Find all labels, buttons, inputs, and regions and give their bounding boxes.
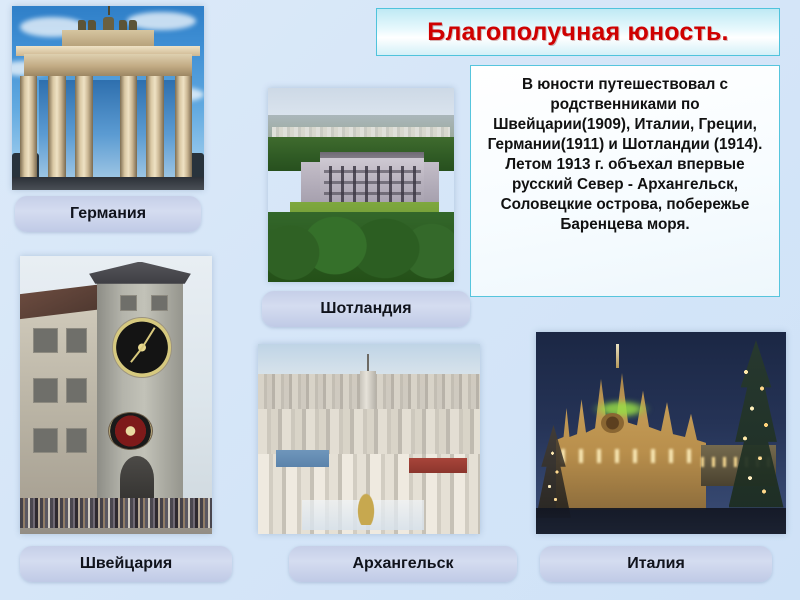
gate-column bbox=[48, 76, 65, 179]
presentation-slide: Благополучная юность. В юности путешеств… bbox=[0, 0, 800, 600]
foreground-trees bbox=[268, 212, 454, 282]
red-roof-building bbox=[409, 458, 467, 473]
window bbox=[66, 328, 87, 352]
photo-germany bbox=[12, 6, 204, 190]
clock-hand bbox=[130, 348, 143, 364]
photo-arkhangelsk bbox=[258, 344, 480, 534]
caption-italy-text: Италия bbox=[627, 555, 685, 573]
gate-column bbox=[146, 76, 163, 179]
window bbox=[33, 328, 58, 352]
window bbox=[33, 378, 58, 402]
tower-window bbox=[120, 295, 137, 311]
tower-window bbox=[151, 295, 168, 311]
gate-column bbox=[175, 76, 192, 179]
clock-hand bbox=[141, 327, 156, 349]
autumn-tree bbox=[356, 490, 376, 524]
astronomical-clock bbox=[108, 412, 152, 450]
photo-scotland bbox=[268, 88, 454, 282]
gate-column bbox=[75, 76, 92, 179]
crowd-in-piazza bbox=[536, 508, 786, 534]
caption-switzerland: Швейцария bbox=[20, 546, 232, 582]
christmas-tree-lights bbox=[731, 352, 781, 518]
window bbox=[33, 428, 58, 452]
caption-scotland-text: Шотландия bbox=[320, 300, 411, 318]
ground-plaza bbox=[12, 177, 204, 190]
clock-face bbox=[112, 317, 172, 377]
slide-title-banner: Благополучная юность. bbox=[376, 8, 780, 56]
quadriga-standard bbox=[108, 6, 110, 15]
gate-column bbox=[120, 76, 137, 179]
photo-switzerland bbox=[20, 256, 212, 534]
decorated-tree-left-lights bbox=[539, 433, 569, 514]
gate-column bbox=[20, 76, 37, 179]
palace-windows bbox=[324, 166, 421, 205]
gate-entablature bbox=[24, 54, 193, 76]
caption-italy: Италия bbox=[540, 546, 772, 582]
caption-germany-text: Германия bbox=[70, 205, 146, 223]
photo-italy bbox=[536, 332, 786, 534]
window bbox=[66, 378, 87, 402]
caption-switzerland-text: Швейцария bbox=[80, 555, 172, 573]
window bbox=[66, 428, 87, 452]
body-text: В юности путешествовал с родственниками … bbox=[483, 75, 767, 235]
body-text-panel: В юности путешествовал с родственниками … bbox=[470, 65, 780, 297]
blue-roof-building bbox=[276, 450, 329, 467]
caption-arkhangelsk-text: Архангельск bbox=[352, 555, 453, 573]
crowd-of-people bbox=[20, 498, 212, 529]
caption-scotland: Шотландия bbox=[262, 291, 470, 327]
slide-title-text: Благополучная юность. bbox=[427, 18, 728, 47]
caption-germany: Германия bbox=[15, 196, 201, 232]
rose-window bbox=[601, 413, 624, 433]
cathedral-main-spire bbox=[616, 344, 619, 368]
caption-arkhangelsk: Архангельск bbox=[289, 546, 517, 582]
facade-lights bbox=[561, 449, 701, 463]
